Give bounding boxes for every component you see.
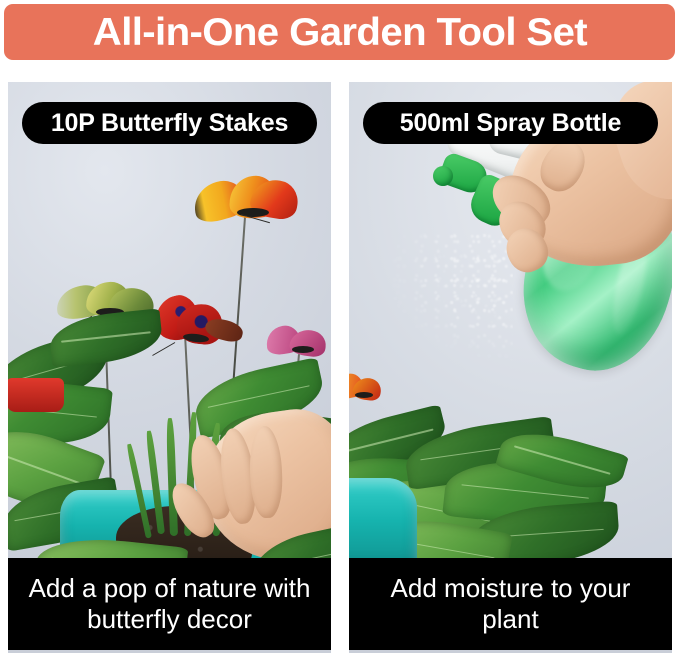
leaf-midrib [461, 484, 588, 499]
butterfly-body [292, 346, 314, 353]
feature-panel-butterfly-stakes: 10P Butterfly Stakes Add a pop of nature… [8, 82, 331, 653]
feature-panel-spray-bottle: 500ml Spray Bottle Add moisture to your … [349, 82, 672, 653]
leaf-midrib [61, 331, 150, 342]
butterfly-body [355, 392, 373, 398]
panel-label-spray-bottle: 500ml Spray Bottle [363, 102, 658, 144]
background-red-pot [8, 378, 64, 412]
page-title: All-in-One Garden Tool Set [92, 13, 586, 52]
butterfly-orange [193, 174, 298, 226]
butterfly-orange-small [349, 372, 383, 406]
butterfly-body [237, 208, 269, 217]
header-banner: All-in-One Garden Tool Set [4, 4, 675, 60]
butterfly-red [153, 294, 243, 350]
product-photo-spray-bottle [349, 82, 672, 576]
product-photo-butterfly-stakes [8, 82, 331, 576]
leaf-midrib [8, 449, 83, 485]
panel-label-butterfly-stakes: 10P Butterfly Stakes [22, 102, 317, 144]
panel-label-text: 500ml Spray Bottle [400, 111, 622, 136]
leaf-midrib [208, 385, 310, 408]
water-mist [383, 250, 503, 346]
product-feature-panels: 10P Butterfly Stakes Add a pop of nature… [0, 64, 679, 653]
panel-caption-text: Add a pop of nature with butterfly decor [8, 573, 331, 634]
panel-label-text: 10P Butterfly Stakes [51, 111, 288, 136]
spray-nozzle-tip [433, 166, 453, 186]
leaf-midrib [514, 445, 611, 474]
panel-caption-spray-bottle: Add moisture to your plant [349, 558, 672, 650]
panel-caption-text: Add moisture to your plant [349, 573, 672, 634]
panel-caption-butterfly-stakes: Add a pop of nature with butterfly decor [8, 558, 331, 650]
